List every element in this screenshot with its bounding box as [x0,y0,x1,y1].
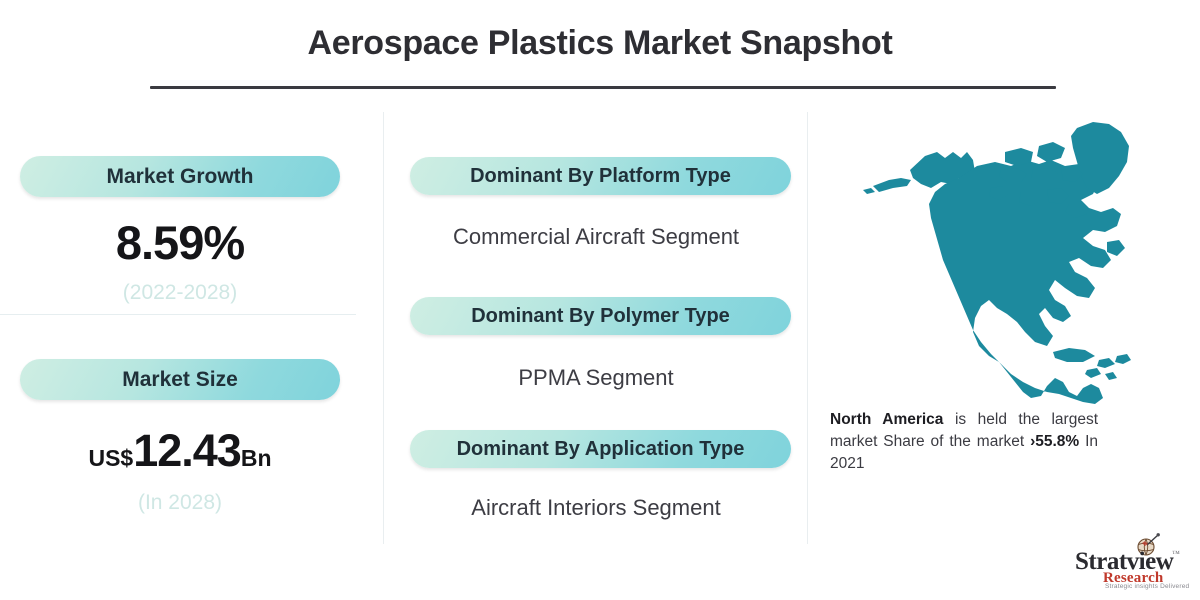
stratview-research-logo: Stratview ™ Research Strategic insights … [1075,532,1200,590]
dominant-application-type-label: Dominant By Application Type [457,438,745,461]
logo-trademark-icon: ™ [1172,549,1180,558]
market-size-value: US$12.43Bn [0,425,360,477]
market-size-unit-suffix: Bn [241,445,272,471]
dominant-platform-type-pill: Dominant By Platform Type [410,157,791,195]
title-underline-rule [150,86,1056,89]
market-growth-value: 8.59% [0,215,360,270]
vertical-divider-right [807,112,808,544]
vertical-divider-left [383,112,384,544]
market-size-pill-label: Market Size [122,368,238,392]
page-title: Aerospace Plastics Market Snapshot [0,24,1200,63]
dominant-application-type-value: Aircraft Interiors Segment [384,495,808,521]
dominant-platform-type-label: Dominant By Platform Type [470,165,731,188]
region-caption-share: 55.8% [1035,433,1079,450]
market-size-period: (In 2028) [0,491,360,515]
dominant-platform-type-value: Commercial Aircraft Segment [384,224,808,250]
dominant-application-type-pill: Dominant By Application Type [410,430,791,468]
dominant-polymer-type-label: Dominant By Polymer Type [471,305,730,328]
market-size-number: 12.43 [133,425,241,476]
market-growth-period: (2022-2028) [0,281,360,305]
market-size-currency-prefix: US$ [88,445,133,471]
north-america-map-icon [855,108,1155,408]
logo-tagline: Strategic insights Delivered [1105,583,1189,590]
dominant-polymer-type-value: PPMA Segment [384,365,808,391]
region-share-caption: North America is held the largest market… [830,409,1098,475]
market-growth-pill: Market Growth [20,156,340,197]
dominant-polymer-type-pill: Dominant By Polymer Type [410,297,791,335]
region-caption-region: North America [830,411,943,428]
market-growth-pill-label: Market Growth [106,165,253,189]
market-size-pill: Market Size [20,359,340,400]
horizontal-divider-left-column [0,314,356,315]
infographic-root: Aerospace Plastics Market Snapshot Marke… [0,0,1200,600]
